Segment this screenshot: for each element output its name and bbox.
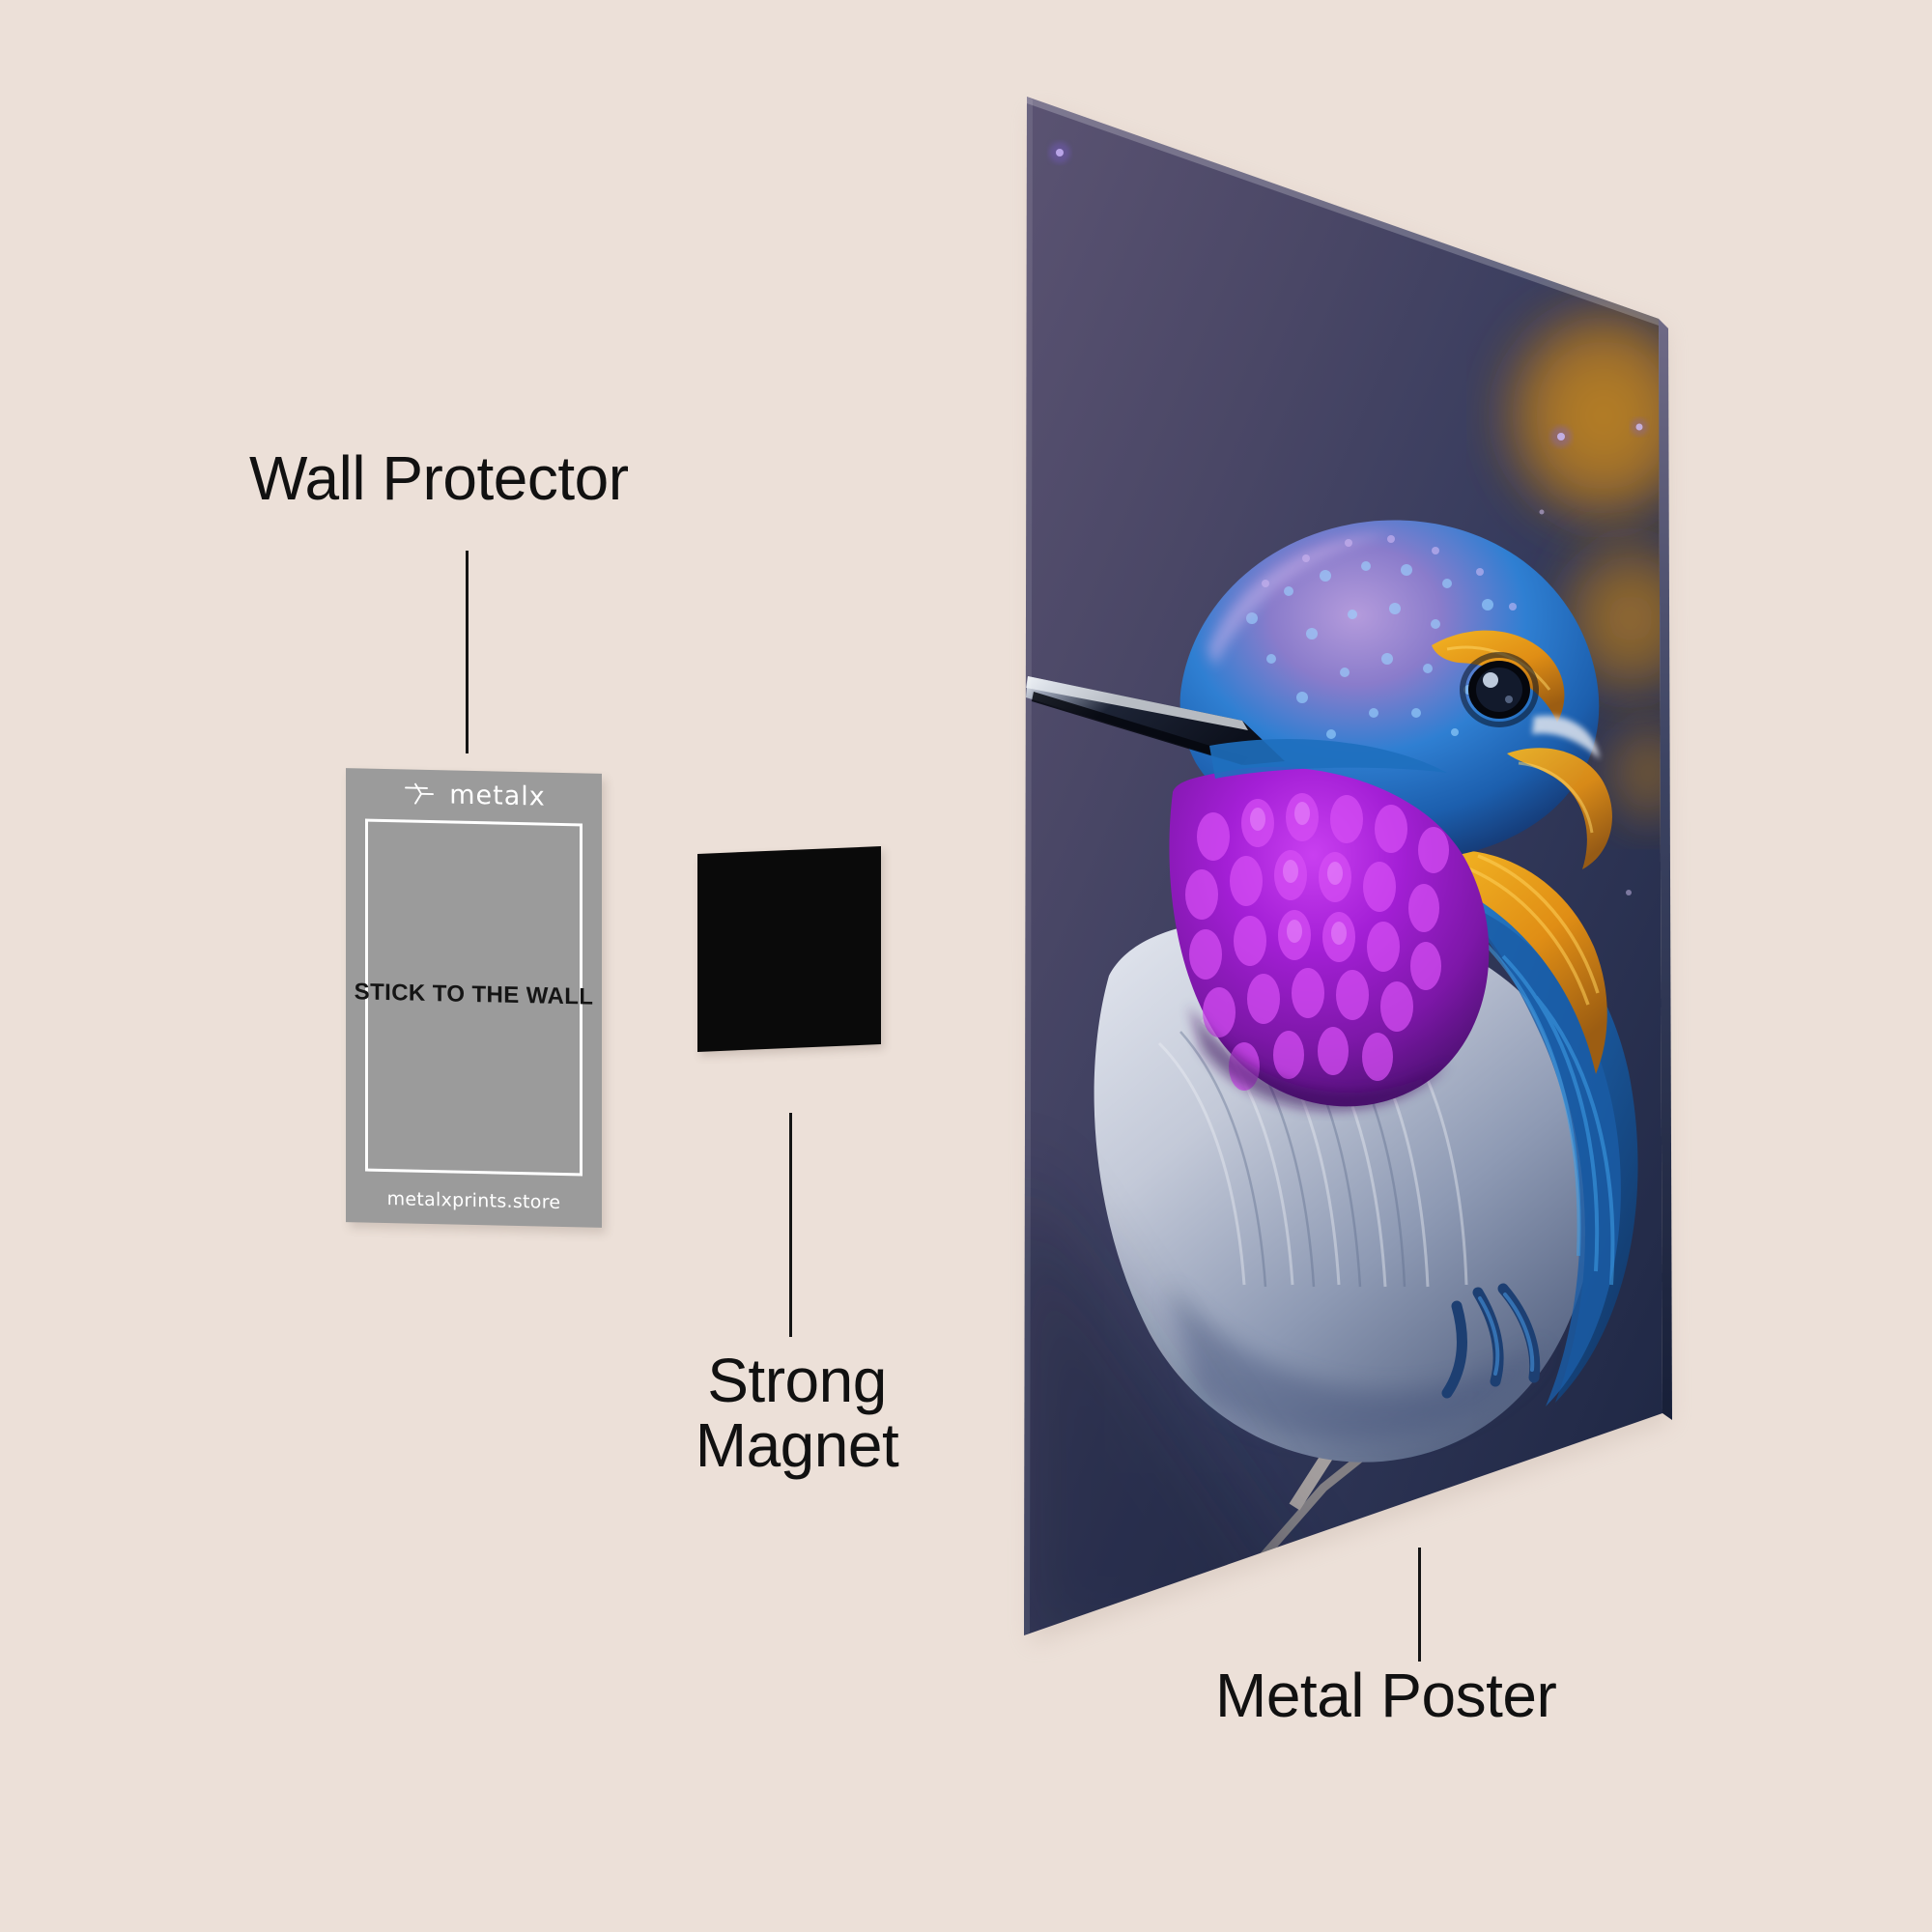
label-strong-magnet: Strong Magnet (676, 1349, 918, 1477)
label-metal-poster: Metal Poster (1215, 1663, 1556, 1728)
card-url: metalxprints.store (346, 1187, 602, 1214)
metal-poster-panel (0, 0, 1932, 1932)
infographic-canvas: metalx STICK TO THE WALL metalxprints.st… (0, 0, 1932, 1932)
brand-logo: metalx (346, 780, 602, 811)
leader-line-metal-poster (1418, 1548, 1421, 1662)
strong-magnet-square[interactable] (697, 846, 881, 1052)
card-headline: STICK TO THE WALL (346, 979, 602, 1011)
brand-name: metalx (449, 781, 546, 810)
leader-line-strong-magnet (789, 1113, 792, 1337)
leader-line-wall-protector (466, 551, 469, 753)
wall-protector-card[interactable]: metalx STICK TO THE WALL metalxprints.st… (346, 768, 602, 1228)
label-wall-protector: Wall Protector (249, 446, 629, 511)
metalx-logo-icon (402, 781, 440, 808)
